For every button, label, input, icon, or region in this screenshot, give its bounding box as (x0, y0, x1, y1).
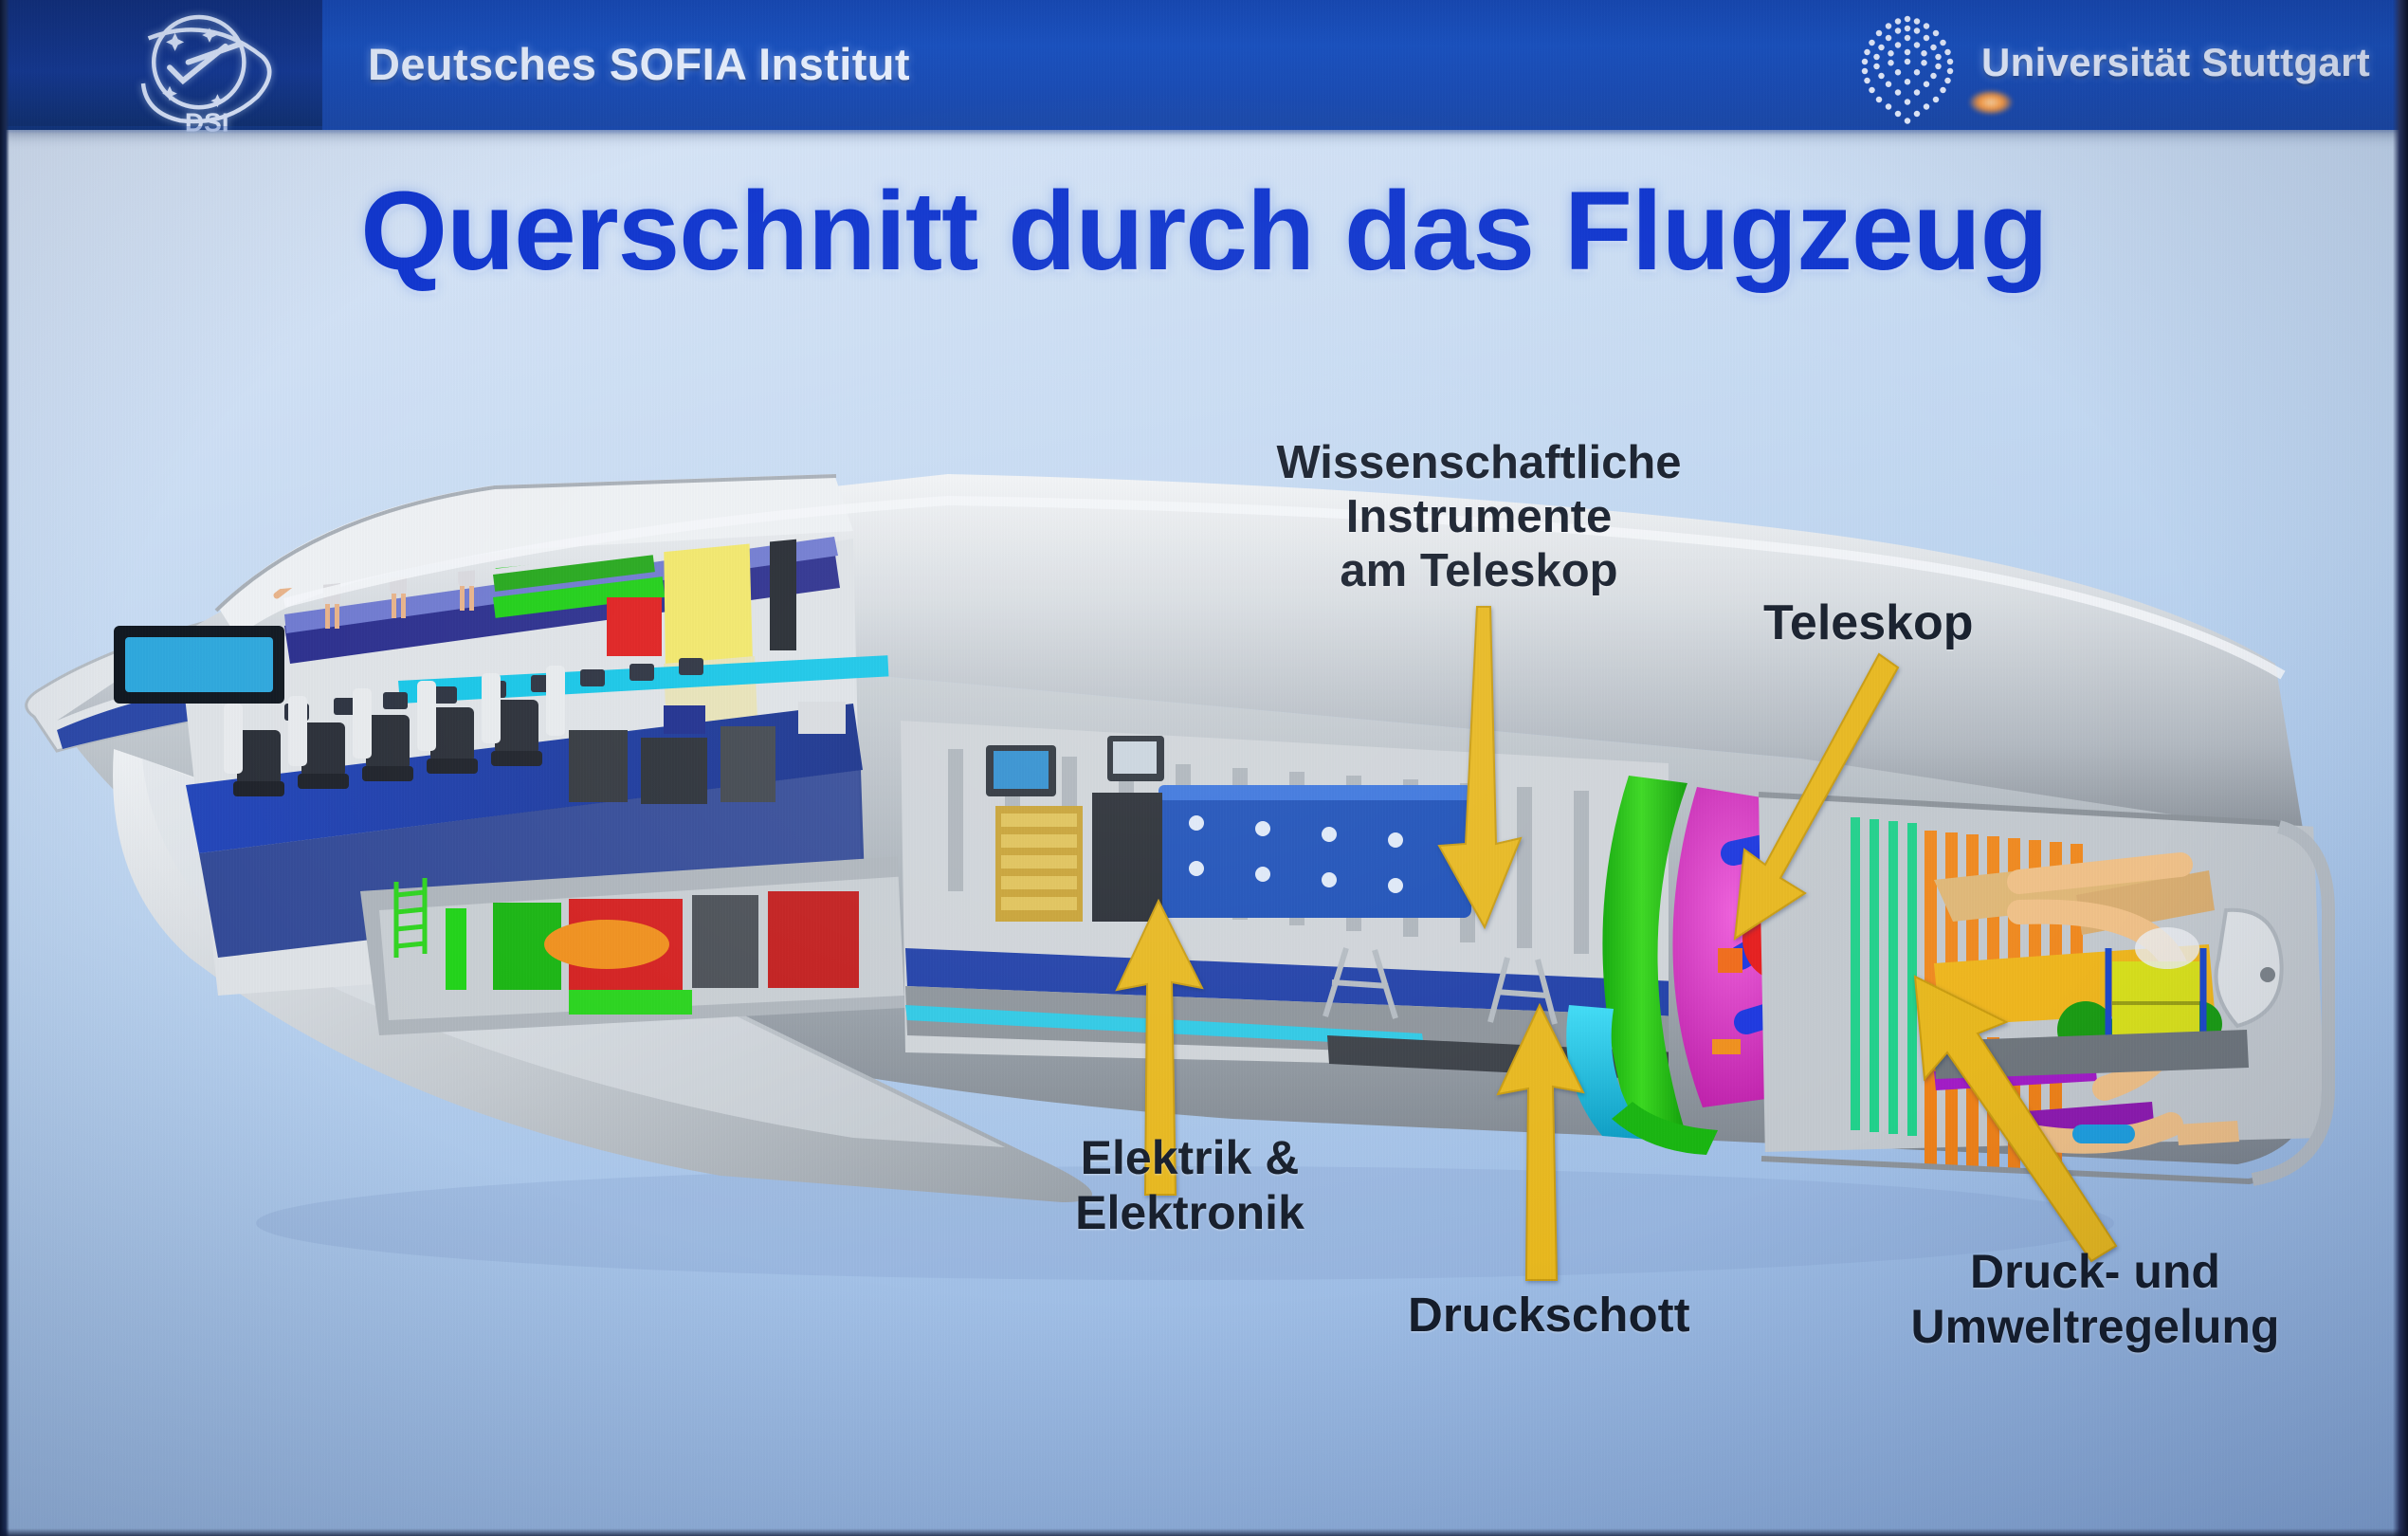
slide-title: Querschnitt durch das Flugzeug (0, 167, 2408, 296)
lens-flare (1969, 90, 2013, 115)
label-teleskop: Teleskop (1763, 594, 1974, 651)
label-elektrik-elektronik: Elektrik & Elektronik (1038, 1130, 1341, 1240)
svg-text:DSI: DSI (185, 107, 229, 137)
photo-edge-right (2393, 0, 2408, 1536)
university-stuttgart-logo-icon (1846, 9, 1969, 128)
label-druckschott: Druckschott (1408, 1287, 1690, 1343)
slide-header: DSI Deutsches SOFIA Institut (0, 0, 2408, 130)
label-line-2: Elektronik (1038, 1185, 1341, 1240)
label-line-3: am Teleskop (1232, 544, 1725, 598)
photo-edge-bottom (0, 1528, 2408, 1536)
arrow-teleskop-pointer (1735, 654, 1906, 958)
label-line-1: Elektrik & (1038, 1130, 1341, 1185)
label-line-1: Wissenschaftliche (1232, 436, 1725, 490)
institute-name: Deutsches SOFIA Institut (368, 38, 910, 90)
dsi-logo-icon: DSI (121, 4, 298, 137)
university-name: Universität Stuttgart (1981, 40, 2370, 85)
label-line-1: Druck- und (1882, 1244, 2308, 1299)
label-line-2: Umweltregelung (1882, 1299, 2308, 1354)
label-druck-und-umweltregelung: Druck- und Umweltregelung (1882, 1244, 2308, 1354)
arrow-druckschott (1479, 1005, 1602, 1280)
label-wissenschaftliche-instrumente: Wissenschaftliche Instrumente am Telesko… (1232, 436, 1725, 597)
label-line-2: Instrumente (1232, 490, 1725, 544)
arrow-teleskop (1422, 607, 1536, 929)
photo-edge-left (0, 0, 9, 1536)
arrow-druck-und-umweltregelung (1906, 977, 2124, 1261)
presentation-slide: Wissenschaftliche Instrumente am Telesko… (0, 0, 2408, 1536)
